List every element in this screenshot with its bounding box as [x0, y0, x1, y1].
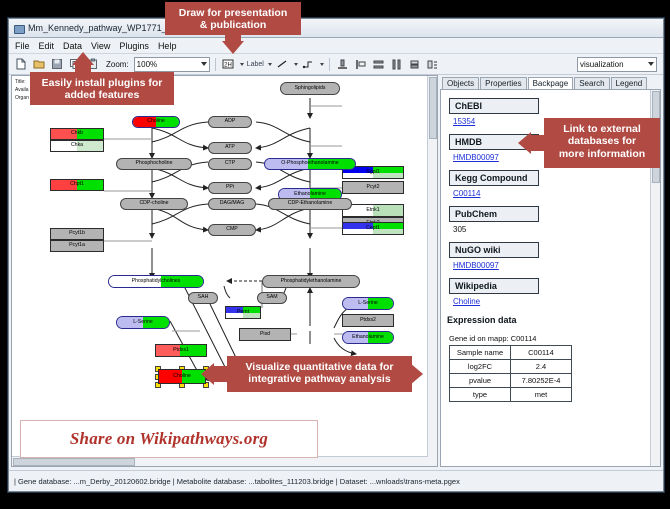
cell-key: Sample name — [450, 346, 511, 360]
callout-draw-arrow — [222, 41, 244, 54]
toolbar-separator — [329, 58, 330, 71]
node-label: Pcyt1b — [69, 231, 85, 236]
node-chpt1[interactable]: Chpt1 — [50, 179, 104, 191]
zoom-label: Zoom: — [106, 60, 129, 69]
node-label: Sphingolipids — [295, 86, 326, 91]
node-label: Choline — [173, 374, 191, 379]
align-bottom-icon[interactable] — [335, 57, 350, 72]
text-tool-icon[interactable]: 2H — [221, 57, 236, 72]
node-cdp-choline[interactable]: CDP-choline — [120, 198, 188, 210]
cell-key: pvalue — [450, 374, 511, 388]
callout-plugins: Easily install plugins for added feature… — [30, 72, 174, 105]
stack-icon[interactable] — [407, 57, 422, 72]
new-file-icon[interactable] — [13, 57, 28, 72]
callout-draw-line1: Draw for presentation & publication — [172, 7, 294, 32]
db-title-wikipedia: Wikipedia — [449, 278, 539, 294]
node-atp[interactable]: ATP — [208, 142, 252, 154]
zoom-select[interactable]: 100% — [134, 57, 210, 72]
db-title-pubchem: PubChem — [449, 206, 539, 222]
node-label: Etnk1 — [366, 208, 379, 213]
share-banner-text: Share on Wikipathways.org — [70, 429, 268, 449]
line-tool-icon[interactable] — [275, 57, 290, 72]
chevron-down-icon[interactable] — [240, 63, 244, 66]
expression-data-heading: Expression data — [447, 315, 660, 325]
status-bar: | Gene database: ...m_Derby_20120602.bri… — [9, 470, 663, 491]
node-label: CTP — [225, 161, 235, 166]
node-ethanolamine-lower[interactable]: Ethanolamine — [342, 331, 394, 344]
node-sphingolipids[interactable]: Sphingolipids — [280, 82, 340, 95]
callout-plugins-line1: Easily install plugins for added feature… — [37, 77, 167, 102]
node-adp[interactable]: ADP — [208, 116, 252, 128]
node-label: Ptdss2 — [360, 318, 376, 323]
node-label: Ptdss1 — [173, 348, 189, 353]
node-cmp[interactable]: CMP — [208, 224, 256, 236]
table-row: Sample name C00114 — [450, 346, 572, 360]
tab-properties[interactable]: Properties — [480, 77, 526, 89]
node-label: Phosphatidylethanolamine — [281, 279, 342, 284]
node-label: Phosphatidylcholines — [132, 279, 181, 284]
menu-item-plugins[interactable]: Plugins — [119, 41, 149, 51]
node-l-serine-right[interactable]: L-Serine — [342, 297, 394, 310]
node-cdp-ethanolamine[interactable]: CDP-Ethanolamine — [268, 198, 352, 210]
toolbar-separator — [215, 58, 216, 71]
db-link-nugo[interactable]: HMDB00097 — [453, 261, 660, 270]
cell-key: type — [450, 388, 511, 402]
node-ppi[interactable]: PPi — [208, 182, 252, 194]
node-l-serine-left[interactable]: L-Serine — [116, 316, 170, 329]
node-label: L-Serine — [133, 320, 153, 325]
tab-objects[interactable]: Objects — [442, 77, 479, 89]
node-label: Chkb — [71, 131, 83, 136]
node-choline-selected[interactable]: Choline — [158, 369, 206, 384]
node-pcyt1b[interactable]: Pcyt1b — [50, 228, 104, 240]
chevron-down-icon — [648, 62, 654, 66]
db-link-kegg[interactable]: C00114 — [453, 189, 660, 198]
chevron-down-icon[interactable] — [294, 63, 298, 66]
node-label: O-Phosphoethanolamine — [281, 161, 338, 166]
table-row: log2FC 2.4 — [450, 360, 572, 374]
node-dag-mag[interactable]: DAG/MAG — [208, 198, 256, 210]
screenshot-root: Mm_Kennedy_pathway_WP1771_45176.gpml Fil… — [0, 0, 670, 509]
node-label: Sgpl1 — [366, 170, 379, 175]
callout-draw: Draw for presentation & publication — [165, 2, 301, 35]
callout-visualize: Visualize quantitative data for integrat… — [227, 356, 412, 392]
node-chka[interactable]: Chka — [50, 140, 104, 152]
order-icon[interactable] — [425, 57, 440, 72]
menu-item-view[interactable]: View — [91, 41, 110, 51]
callout-links-line1: Link to external databases for more info… — [551, 123, 653, 160]
db-block-wikipedia: Wikipedia Choline — [449, 276, 660, 306]
db-title-nugo: NuGO wiki — [449, 242, 539, 258]
node-ctp[interactable]: CTP — [208, 158, 252, 170]
menu-item-file[interactable]: File — [15, 41, 30, 51]
node-label: Ethanolamine — [294, 192, 326, 197]
status-text: | Gene database: ...m_Derby_20120602.bri… — [14, 477, 460, 486]
node-ptdss1[interactable]: Ptdss1 — [155, 344, 207, 357]
node-label: Pemt — [237, 310, 249, 315]
chevron-down-icon[interactable] — [268, 63, 272, 66]
node-phosphatidylethanolamine[interactable]: Phosphatidylethanolamine — [262, 275, 360, 288]
node-label: CMP — [226, 227, 238, 232]
distribute-horizontal-icon[interactable] — [389, 57, 404, 72]
node-label: Ethanolamine — [352, 335, 384, 340]
menu-item-help[interactable]: Help — [158, 41, 177, 51]
align-left-icon[interactable] — [353, 57, 368, 72]
pathway-canvas[interactable]: Title: Availa Organ — [11, 75, 438, 467]
db-link-wikipedia[interactable]: Choline — [453, 297, 660, 306]
node-label: CDP-choline — [139, 201, 168, 206]
connector-tool-icon[interactable] — [301, 57, 316, 72]
cell-val: met — [511, 388, 572, 402]
chevron-down-icon[interactable] — [320, 63, 324, 66]
node-label: Phosphocholine — [136, 161, 173, 166]
db-block-nugo: NuGO wiki HMDB00097 — [449, 240, 660, 270]
node-pcyt2[interactable]: Pcyt2 — [342, 181, 404, 194]
node-pcyt1a[interactable]: Pcyt1a — [50, 240, 104, 252]
open-folder-icon[interactable] — [31, 57, 46, 72]
node-label: PPi — [226, 185, 234, 190]
node-label: ATP — [225, 145, 235, 150]
svg-text:2H: 2H — [224, 63, 232, 69]
node-pemt[interactable]: Pemt — [225, 306, 261, 319]
node-label: Chka — [71, 143, 83, 148]
node-o-phosphoethanolamine[interactable]: O-Phosphoethanolamine — [264, 158, 356, 170]
db-title-kegg: Kegg Compound — [449, 170, 539, 186]
node-label: Chpt1 — [70, 182, 84, 187]
node-phosphatidylcholines[interactable]: Phosphatidylcholines — [108, 275, 204, 288]
cell-val: 2.4 — [511, 360, 572, 374]
label-tool-label[interactable]: Label — [247, 61, 264, 68]
menu-bar: File Edit Data View Plugins Help — [9, 38, 663, 54]
node-label: Pcyt1a — [69, 243, 85, 248]
node-phosphocholine[interactable]: Phosphocholine — [116, 158, 192, 170]
visualization-value: visualization — [580, 60, 624, 69]
node-label: Pcyt2 — [367, 185, 380, 190]
db-title-chebi: ChEBI — [449, 98, 539, 114]
node-label: CDP-Ethanolamine — [288, 201, 332, 206]
callout-plugins-arrow — [72, 52, 94, 65]
tab-legend[interactable]: Legend — [611, 77, 648, 89]
share-banner: Share on Wikipathways.org — [20, 420, 318, 458]
table-row: type met — [450, 388, 572, 402]
cell-val: 7.80252E-4 — [511, 374, 572, 388]
node-chkb[interactable]: Chkb — [50, 128, 104, 140]
node-label: SAH — [198, 295, 209, 300]
db-block-pubchem: PubChem 305 — [449, 204, 660, 234]
db-block-kegg: Kegg Compound C00114 — [449, 168, 660, 198]
node-label: Choline — [147, 119, 165, 124]
menu-item-edit[interactable]: Edit — [39, 41, 55, 51]
node-pisd[interactable]: Pisd — [239, 328, 291, 341]
gene-id-label: Gene id on mapp: C00114 — [449, 334, 660, 343]
sidebar-tabs: Objects Properties Backpage Search Legen… — [440, 75, 661, 89]
node-sah[interactable]: SAH — [188, 292, 218, 304]
callout-links-arrow — [518, 132, 531, 154]
node-cept1[interactable]: Cept1 — [342, 222, 404, 235]
node-label: DAG/MAG — [220, 201, 245, 206]
db-value-pubchem: 305 — [453, 225, 660, 234]
chevron-down-icon — [201, 62, 207, 66]
tab-search[interactable]: Search — [574, 77, 609, 89]
cell-key: log2FC — [450, 360, 511, 374]
save-icon[interactable] — [49, 57, 64, 72]
node-label: ADP — [225, 119, 236, 124]
node-choline-top[interactable]: Choline — [132, 116, 180, 128]
tab-backpage[interactable]: Backpage — [528, 77, 574, 89]
callout-visualize-arrow — [201, 363, 214, 385]
distribute-vertical-icon[interactable] — [371, 57, 386, 72]
pathvisio-icon — [13, 23, 24, 34]
node-label: SAM — [266, 295, 277, 300]
title-bar: Mm_Kennedy_pathway_WP1771_45176.gpml — [9, 19, 663, 38]
node-label: Pisd — [260, 332, 270, 337]
visualization-select[interactable]: visualization — [577, 57, 657, 72]
node-label: Cept1 — [366, 226, 380, 231]
expression-table: Sample name C00114 log2FC 2.4 pvalue 7.8… — [449, 345, 572, 402]
cell-val: C00114 — [511, 346, 572, 360]
menu-item-data[interactable]: Data — [63, 41, 82, 51]
node-label: L-Serine — [358, 301, 378, 306]
table-row: pvalue 7.80252E-4 — [450, 374, 572, 388]
node-ptdss2[interactable]: Ptdss2 — [342, 314, 394, 327]
callout-visualize-line1: Visualize quantitative data for integrat… — [234, 361, 405, 386]
node-sam[interactable]: SAM — [257, 292, 287, 304]
zoom-value: 100% — [137, 60, 157, 69]
callout-links: Link to external databases for more info… — [544, 118, 660, 168]
